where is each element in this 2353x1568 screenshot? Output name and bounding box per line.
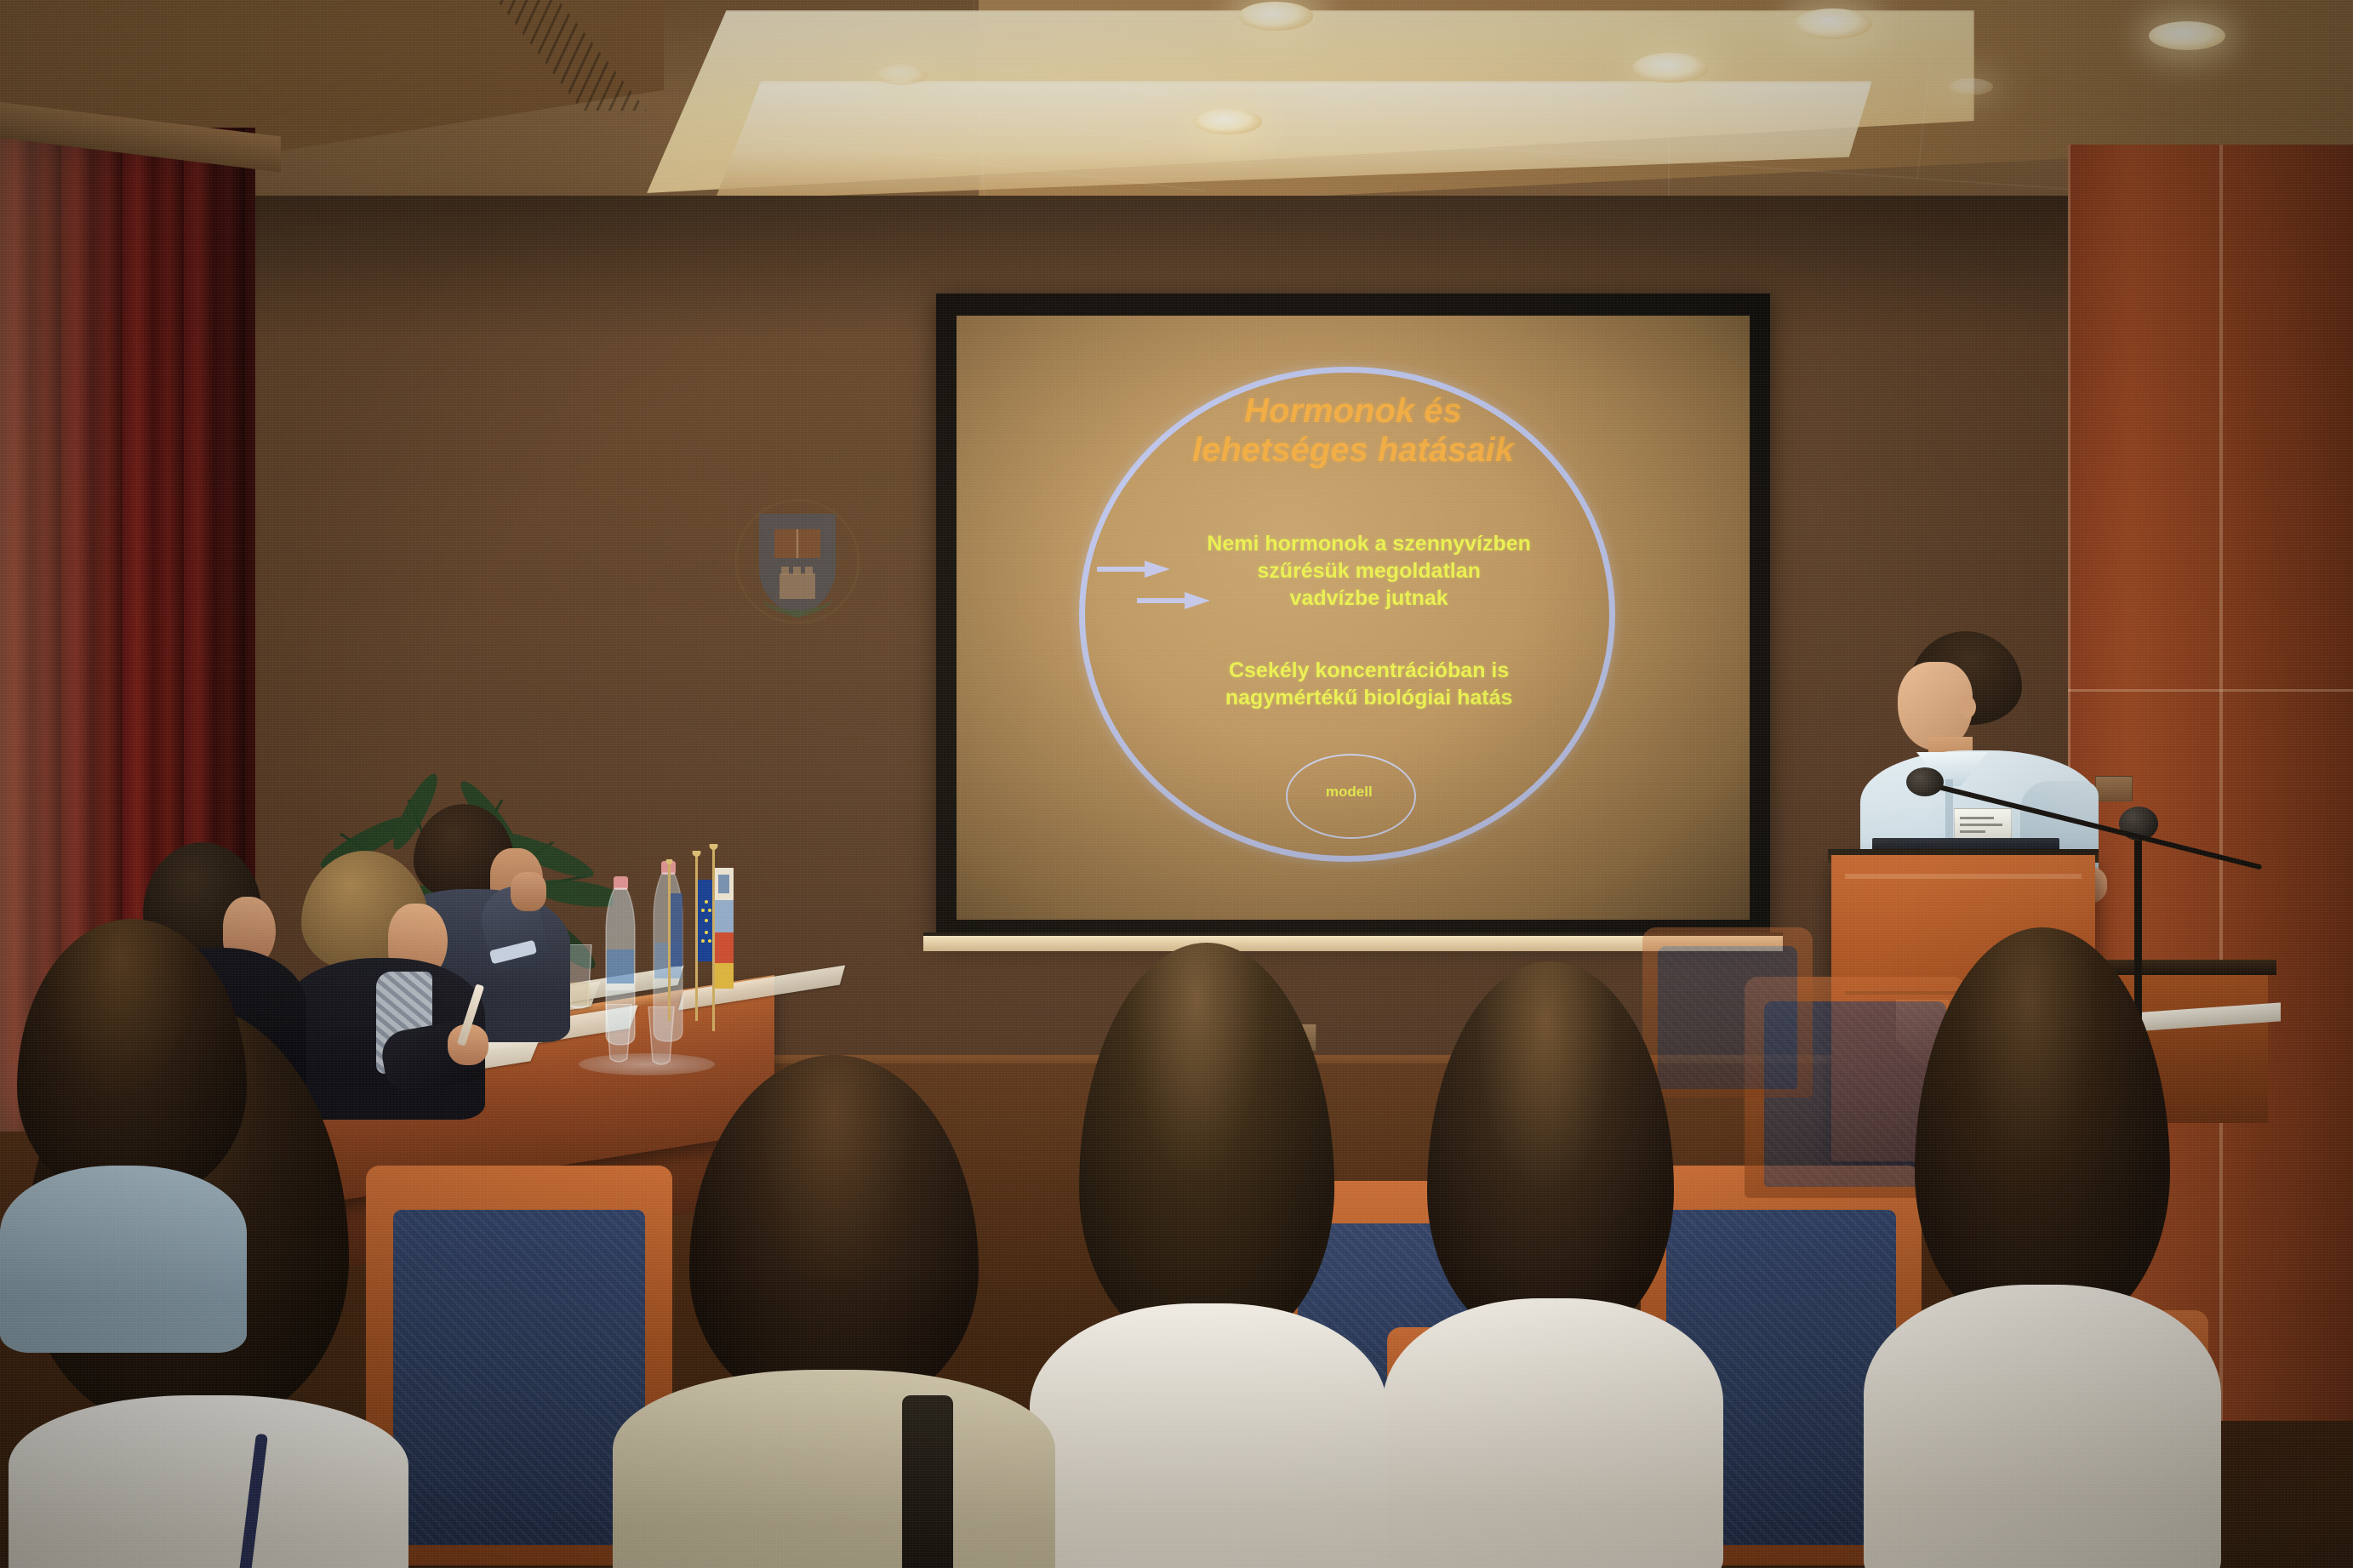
- arrow-right-1-icon: [1095, 557, 1174, 581]
- slide-title-line-2: lehetséges hatásaik: [1067, 430, 1638, 470]
- projection-screen: Hormonok és lehetséges hatásaik Nemi hor…: [936, 294, 1770, 940]
- ceiling-downlight: [1632, 53, 1709, 83]
- slide-body-2-line-1: Csekély koncentrációban is: [1131, 657, 1607, 684]
- desk-flag-national: [700, 844, 737, 1031]
- ceiling-downlight: [1794, 9, 1872, 39]
- microphone-icon: [1906, 767, 1944, 796]
- audience-member-3: [613, 1055, 1055, 1568]
- university-crest-icon: [734, 499, 861, 624]
- panel-member-3-hand: [511, 872, 546, 911]
- beige-jacket: [613, 1370, 1055, 1568]
- name-badge: [1954, 808, 2012, 841]
- slide-body-1-line-1: Nemi hormonok a szennyvízben: [1131, 530, 1607, 557]
- presenter-ear: [1959, 696, 1976, 718]
- ceiling-downlight: [2149, 21, 2225, 50]
- slide-body-block-2: Csekély koncentrációban is nagymértékű b…: [1131, 657, 1607, 711]
- ceiling-downlight: [877, 65, 928, 85]
- slide-body-2-line-2: nagymértékű biológiai hatás: [1131, 684, 1607, 711]
- slide-body-1-line-2: szűrésük megoldatlan: [1131, 557, 1607, 584]
- ceiling-downlight: [1949, 78, 1993, 95]
- arrow-right-2-icon: [1135, 589, 1214, 613]
- ceiling-downlight: [1194, 109, 1262, 134]
- audience-member-6: [1864, 927, 2221, 1568]
- audience-member-5: [1383, 961, 1723, 1568]
- desk-flag-third: [657, 859, 684, 1021]
- shoulder-bag-strap: [902, 1395, 953, 1568]
- projected-slide: Hormonok és lehetséges hatásaik Nemi hor…: [957, 316, 1750, 920]
- wall-switch-plate[interactable]: [2095, 776, 2133, 801]
- audience-member-1: [0, 919, 281, 1319]
- audience-member-4: [1030, 943, 1387, 1568]
- slide-title-line-1: Hormonok és: [1067, 391, 1638, 430]
- ceiling-seam: [1668, 85, 1670, 196]
- ceiling-downlight: [1238, 2, 1313, 31]
- conference-room-scene: Hormonok és lehetséges hatásaik Nemi hor…: [0, 0, 2353, 1568]
- slide-inner-ellipse-label: modell: [1286, 784, 1413, 801]
- slide-title: Hormonok és lehetséges hatásaik: [1067, 391, 1638, 470]
